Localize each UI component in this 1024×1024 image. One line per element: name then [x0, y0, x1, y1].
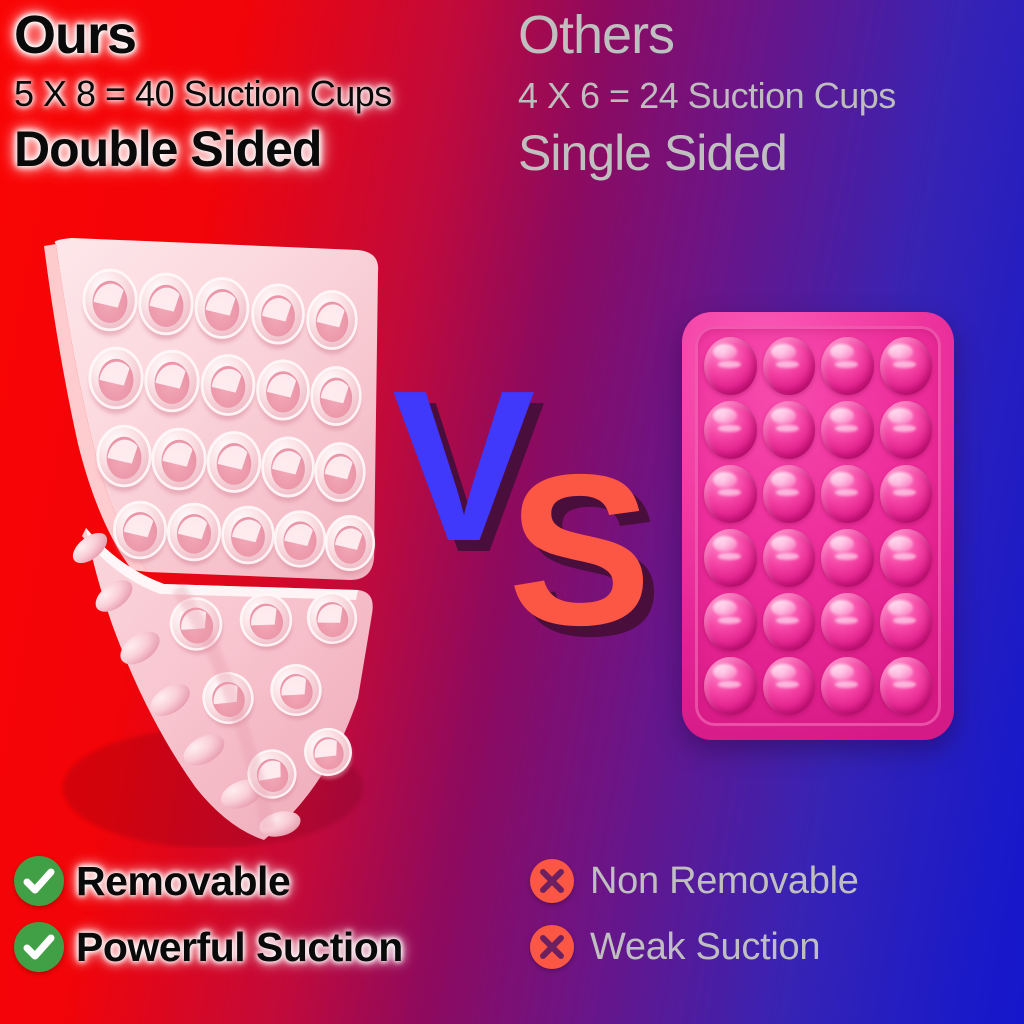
x-circle-icon: [530, 925, 574, 969]
suction-dome: [880, 657, 933, 715]
suction-dome: [880, 337, 933, 395]
list-item: Weak Suction: [530, 914, 1010, 980]
suction-dome: [763, 529, 816, 587]
others-sided-label: Single Sided: [518, 114, 1018, 178]
suction-dome: [763, 657, 816, 715]
suction-dome: [821, 337, 874, 395]
suction-dome: [763, 337, 816, 395]
list-item: Powerful Suction: [14, 914, 484, 980]
others-feature-label: Weak Suction: [590, 926, 820, 969]
tray-inner-surface: [695, 326, 941, 726]
suction-dome: [821, 401, 874, 459]
others-feature-list: Non Removable Weak Suction: [530, 848, 1010, 980]
others-feature-label: Non Removable: [590, 860, 859, 903]
ours-feature-list: Removable Powerful Suction: [14, 848, 484, 980]
suction-dome: [821, 465, 874, 523]
suction-dome: [880, 465, 933, 523]
ours-product-image: [28, 228, 398, 848]
suction-dome: [704, 465, 757, 523]
versus-s-letter: S: [508, 442, 651, 657]
check-circle-icon: [14, 922, 64, 972]
pad-front-panel: [44, 238, 378, 580]
suction-dome: [763, 465, 816, 523]
others-product-image: [682, 312, 954, 740]
ours-heading: Ours: [14, 0, 494, 62]
suction-dome: [704, 337, 757, 395]
suction-dome: [880, 401, 933, 459]
suction-dome: [821, 593, 874, 651]
suction-dome: [704, 657, 757, 715]
others-heading: Others: [518, 0, 1018, 62]
ours-count-line: 5 X 8 = 40 Suction Cups: [14, 62, 494, 112]
list-item: Removable: [14, 848, 484, 914]
ours-sided-label: Double Sided: [14, 112, 494, 174]
comparison-infographic: Ours 5 X 8 = 40 Suction Cups Double Side…: [0, 0, 1024, 1024]
x-circle-icon: [530, 859, 574, 903]
suction-dome: [763, 593, 816, 651]
ours-feature-label: Removable: [76, 858, 290, 905]
ours-feature-label: Powerful Suction: [76, 924, 403, 971]
suction-dome: [763, 401, 816, 459]
others-text-column: Others 4 X 6 = 24 Suction Cups Single Si…: [518, 0, 1018, 178]
others-count-line: 4 X 6 = 24 Suction Cups: [518, 62, 1018, 114]
versus-badge: V S: [392, 358, 652, 668]
ours-text-column: Ours 5 X 8 = 40 Suction Cups Double Side…: [14, 0, 494, 174]
suction-dome: [880, 593, 933, 651]
suction-dome: [704, 529, 757, 587]
suction-dome: [704, 401, 757, 459]
suction-dome: [880, 529, 933, 587]
versus-v-letter: V: [392, 358, 535, 573]
list-item: Non Removable: [530, 848, 1010, 914]
suction-dome: [704, 593, 757, 651]
suction-dome: [821, 529, 874, 587]
suction-dome: [821, 657, 874, 715]
check-circle-icon: [14, 856, 64, 906]
